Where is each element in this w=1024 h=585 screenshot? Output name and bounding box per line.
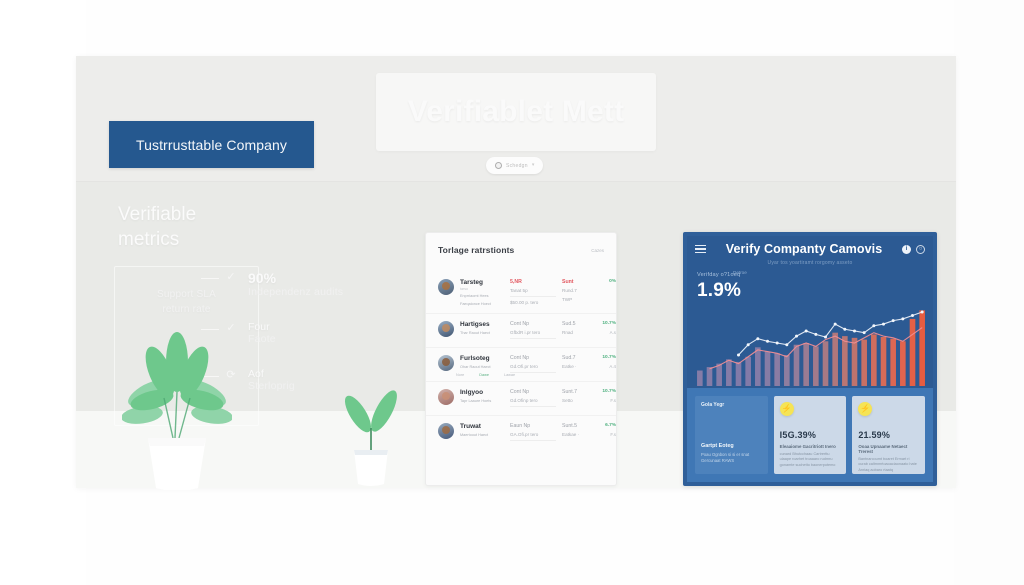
table-card-action-link[interactable]: Cazes	[591, 248, 604, 253]
dashboard-card-metric-1[interactable]: ⚡ I5G.39% Eleaaiome Gacritriott Inero cu…	[774, 396, 847, 474]
checklist-item-label: Faote	[248, 333, 405, 346]
plant-illustration-large	[122, 320, 232, 490]
table-cell-name: Inlgyoo Tapr Laaure Hoets	[460, 389, 504, 403]
row-right-2: Eatkae ·	[562, 432, 592, 437]
table-cell-percent: 6.7% F.s	[598, 423, 616, 437]
dashboard-header: Verify Companty Camovis i ○	[687, 236, 933, 262]
metrics-table-card: Torlage ratrstionts Cazes Tarsteg tarso …	[425, 232, 617, 486]
header-settings-pill[interactable]: Schedgn ▾	[486, 157, 543, 174]
row-right-1: Sunt.5	[562, 423, 592, 429]
card-metric-body: cunard Bhutcchaau Cartrerttu ulaape roar…	[780, 452, 841, 468]
row-subtitle: tarso	[460, 287, 504, 291]
row-mid-1: Cont Np	[510, 321, 556, 327]
page-title: Verifiablet Mett	[408, 95, 625, 129]
dashboard-title: Verify Companty Camovis	[706, 242, 902, 256]
checklist-item-value: Four	[248, 321, 405, 333]
plant-illustration-small	[338, 378, 404, 488]
chevron-down-icon: ▾	[532, 163, 535, 168]
lightning-bolt-icon: ⚡	[858, 402, 872, 416]
table-cell-right: Sud.5 Rnad	[562, 321, 592, 335]
avatar	[438, 321, 454, 337]
dashboard-chart-section: Verify Companty Camovis i ○ Uyar tos yoa…	[687, 236, 933, 388]
avatar	[438, 423, 454, 439]
avatar	[438, 279, 454, 295]
card-metric-label: Eleaaiome Gacritriott Inero	[780, 444, 841, 449]
checklist-item: ✓ 90% Independenz audits	[225, 270, 405, 299]
table-cell-mid: Cont Np GfbdR i.pr tero	[510, 321, 556, 339]
table-body: Tarsteg tarso Enprriaomt Hees Faeqaionce…	[426, 272, 616, 450]
row-mid-2: Gd.Ofinp tero	[510, 398, 556, 407]
table-row[interactable]: Truwat Maertoout Haect Eaun Np GA.Ofi.pr…	[426, 416, 616, 450]
status-badge[interactable]: Nore	[456, 373, 464, 377]
kpi-note: Detroe	[733, 270, 747, 275]
row-mid-1: 5,NR	[510, 279, 556, 285]
checklist-item-label: Independenz audits	[248, 286, 405, 299]
status-badge[interactable]: Dawe	[479, 373, 489, 377]
table-cell-name: Tarsteg tarso Enprriaomt Hees Faeqaionce…	[460, 279, 504, 306]
row-right-2: Eatke ·	[562, 364, 592, 369]
table-cell-mid: Cont Np Gd.Ofi.pr tero	[510, 355, 556, 373]
table-cell-mid: Eaun Np GA.Ofi.pr tero	[510, 423, 556, 441]
right-gutter	[954, 0, 1024, 585]
row-percent-sub: A.s	[598, 330, 616, 335]
row-percent: 10.7%	[598, 321, 616, 326]
row-mid-2: GfbdR i.pr tero	[510, 330, 556, 339]
clock-icon[interactable]: ○	[916, 245, 925, 254]
row-right-3: TWP	[562, 297, 592, 302]
panel-heading-line2: metrics	[118, 227, 238, 252]
row-percent-sub: F.s	[598, 432, 616, 437]
card-footer-body: Poau Ognbon si si er snat Gercunaat RAWS	[701, 452, 762, 464]
dashboard-card-metric-2[interactable]: ⚡ 21.59% Ooaa Upnaame Netaect Trerest Ba…	[852, 396, 925, 474]
check-icon: ✓	[225, 271, 237, 283]
page-title-card: Verifiablet Mett	[376, 73, 656, 151]
panel-heading-line1: Verifiable	[118, 202, 238, 227]
card-footer-heading: Gartpt Eoteg	[701, 443, 762, 449]
dashboard-card-summary[interactable]: Gola Yegr Gartpt Eoteg Poau Ognbon si si…	[695, 396, 768, 474]
row-mid-2: Gd.Ofi.pr tero	[510, 364, 556, 373]
lightning-bolt-icon: ⚡	[780, 402, 794, 416]
app-header: Verifiablet Mett Schedgn ▾ Tustrrusttabl…	[76, 56, 956, 182]
row-detail-1: Thar Raout Haect	[460, 331, 504, 335]
card-metric-value: I5G.39%	[780, 430, 841, 440]
row-percent-sub: A.4	[598, 364, 616, 369]
chart-svg	[687, 296, 933, 388]
header-pill-label: Schedgn	[506, 163, 528, 169]
info-icon[interactable]: i	[902, 245, 911, 254]
table-cell-percent: 10.7% A.s	[598, 321, 616, 335]
table-cell-right: Sud.7 Eatke ·	[562, 355, 592, 369]
table-cell-mid: 5,NR Tanat 5p $50.00 p. tero	[510, 279, 556, 305]
table-cell-mid: Cont Np Gd.Ofinp tero	[510, 389, 556, 407]
table-cell-percent: 10.7% A.4	[598, 355, 616, 369]
table-cell-right: Sunt Rund.7 TWP	[562, 279, 592, 302]
avatar	[438, 355, 454, 371]
row-percent: 6.7%	[598, 423, 616, 428]
row-detail-1: Enprriaomt Hees	[460, 294, 504, 298]
row-detail-2: Faeqaionce Hoect	[460, 302, 504, 306]
table-cell-right: Sunt.5 Eatkae ·	[562, 423, 592, 437]
checklist-item: ✓ Four Faote	[225, 321, 405, 346]
row-percent-sub: F.s	[598, 398, 616, 403]
row-right-1: Sud.7	[562, 355, 592, 361]
row-name: Furlsoteg	[460, 355, 504, 362]
card-footer: Gartpt Eoteg Poau Ognbon si si er snat G…	[701, 443, 762, 464]
hamburger-menu-icon[interactable]	[695, 245, 706, 254]
table-cell-right: Sunt.7 Setto	[562, 389, 592, 403]
row-percent: 0%	[598, 279, 616, 284]
row-mid-1: Cont Np	[510, 355, 556, 361]
row-detail-1: Maertoout Haect	[460, 433, 504, 437]
bar-line-chart	[687, 296, 933, 388]
row-percent: 10.7%	[598, 355, 616, 360]
screenshot-canvas: Verifiablet Mett Schedgn ▾ Tustrrusttabl…	[0, 0, 1024, 585]
left-gutter	[0, 0, 86, 585]
card-metric-label: Ooaa Upnaame Netaect Trerest	[858, 444, 919, 454]
row-mid-2: GA.Ofi.pr tero	[510, 432, 556, 441]
row-percent: 10.7%	[598, 389, 616, 394]
row-right-2: Setto	[562, 398, 592, 403]
company-dashboard-panel: Verify Companty Camovis i ○ Uyar tos yoa…	[683, 232, 937, 486]
dashboard-header-icons: i ○	[902, 245, 925, 254]
table-row[interactable]: Tarsteg tarso Enprriaomt Hees Faeqaionce…	[426, 272, 616, 314]
table-row[interactable]: Hartigses Thar Raout Haect Cont Np GfbdR…	[426, 314, 616, 348]
gear-icon	[495, 162, 502, 169]
brand-company-button[interactable]: Tustrrusttable Company	[109, 121, 314, 168]
table-cell-name: Truwat Maertoout Haect	[460, 423, 504, 437]
card-title: Gola Yegr	[701, 402, 724, 408]
row-mid-1: Cont Np	[510, 389, 556, 395]
card-metric-value: 21.59%	[858, 430, 919, 440]
table-cell-name: Hartigses Thar Raout Haect	[460, 321, 504, 335]
row-name: Truwat	[460, 423, 504, 430]
row-status-chips: Nore Dawe Lawae	[456, 373, 515, 377]
table-row[interactable]: Furlsoteg Ohar Raout Haect Cont Np Gd.Of…	[426, 348, 616, 382]
row-name: Hartigses	[460, 321, 504, 328]
table-row[interactable]: Inlgyoo Tapr Laaure Hoets Cont Np Gd.Ofi…	[426, 382, 616, 416]
row-right-1: Sunt.7	[562, 389, 592, 395]
dashboard-cards-section: Gola Yegr Gartpt Eoteg Poau Ognbon si si…	[687, 388, 933, 482]
row-detail-1: Ohar Raout Haect	[460, 365, 504, 369]
table-cell-percent: 0%	[598, 279, 616, 288]
card-metric-body: Bantnarcoumt boaret Ermart ri curab calt…	[858, 457, 919, 473]
row-right-1: Sud.5	[562, 321, 592, 327]
row-name: Inlgyoo	[460, 389, 504, 396]
status-badge[interactable]: Lawae	[504, 373, 515, 377]
row-mid-1: Eaun Np	[510, 423, 556, 429]
row-detail-1: Tapr Laaure Hoets	[460, 399, 504, 403]
row-name: Tarsteg	[460, 279, 504, 286]
dashboard-cards: Gola Yegr Gartpt Eoteg Poau Ognbon si si…	[687, 388, 933, 482]
table-card-header: Torlage ratrstionts Cazes	[426, 233, 616, 255]
table-cell-name: Furlsoteg Ohar Raout Haect	[460, 355, 504, 369]
avatar	[438, 389, 454, 405]
table-cell-percent: 10.7% F.s	[598, 389, 616, 403]
panel-heading: Verifiable metrics	[118, 202, 238, 252]
table-card-title: Torlage ratrstionts	[438, 245, 514, 255]
row-right-2: Rnad	[562, 330, 592, 335]
row-right-1: Sunt	[562, 279, 592, 285]
row-mid-2: Tanat 5p	[510, 288, 556, 297]
checklist-item-value: 90%	[248, 270, 405, 286]
row-mid-3: $50.00 p. tero	[510, 300, 556, 305]
connector-line	[201, 278, 219, 279]
row-right-2: Rund.7	[562, 288, 592, 293]
dashboard-inner: Verify Companty Camovis i ○ Uyar tos yoa…	[687, 236, 933, 482]
